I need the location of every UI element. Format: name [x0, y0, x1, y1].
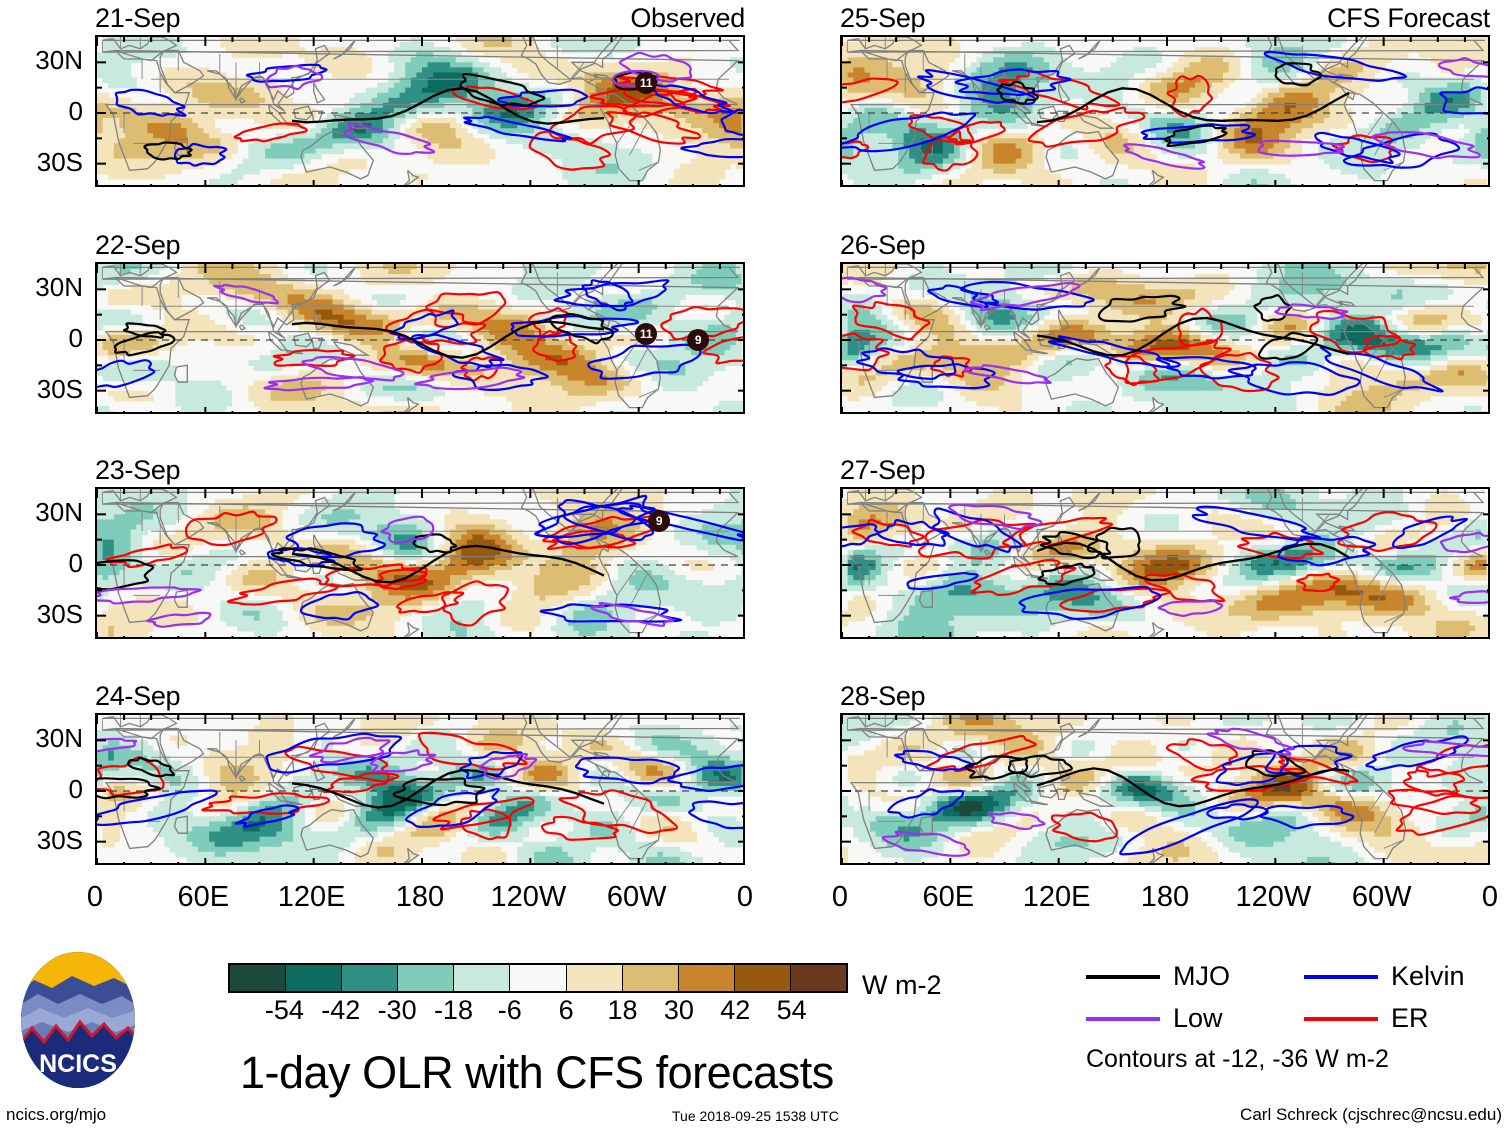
- x-tick-label: 60W: [592, 883, 682, 912]
- footer-timestamp: Tue 2018-09-25 1538 UTC: [672, 1108, 839, 1125]
- footer-author: Carl Schreck (cjschrec@ncsu.edu): [1240, 1106, 1502, 1123]
- y-tick-label: 0: [0, 325, 83, 351]
- legend-label: Low: [1173, 1005, 1223, 1032]
- colorbar-swatch: [230, 965, 286, 991]
- legend-line-swatch: [1086, 1017, 1160, 1021]
- panel-ticks: [97, 264, 745, 414]
- legend-item-low: Low: [1086, 1005, 1223, 1032]
- legend-line-swatch: [1304, 1017, 1378, 1021]
- colorbar-swatch: [398, 965, 454, 991]
- y-tick-label: 30S: [0, 827, 83, 853]
- legend-note: Contours at -12, -36 W m-2: [1086, 1047, 1389, 1072]
- x-tick-label: 60E: [903, 883, 993, 912]
- legend-label: ER: [1391, 1005, 1429, 1032]
- map-panel-24-sep[interactable]: [95, 713, 745, 865]
- y-tick-label: 30N: [0, 725, 83, 751]
- panel-date-label: 25-Sep: [840, 5, 925, 32]
- map-panel-23-sep[interactable]: 9: [95, 487, 745, 639]
- panel-date-label: 21-Sep: [95, 5, 180, 32]
- logo-svg: NCICS: [18, 950, 138, 1090]
- colorbar: -54-42-30-18-6618304254: [228, 963, 848, 1033]
- y-tick-label: 30N: [0, 47, 83, 73]
- panel-ticks: [97, 715, 745, 865]
- legend-item-mjo: MJO: [1086, 963, 1230, 990]
- colorbar-swatch: [623, 965, 679, 991]
- x-tick-label: 0: [50, 883, 140, 912]
- contour-legend: MJOKelvinLowER: [1086, 963, 1486, 1033]
- colorbar-swatch: [735, 965, 791, 991]
- colorbar-swatch: [286, 965, 342, 991]
- colorbar-swatch: [567, 965, 623, 991]
- logo-text: NCICS: [39, 1050, 117, 1078]
- legend-label: MJO: [1173, 963, 1230, 990]
- x-tick-label: 0: [700, 883, 790, 912]
- panel-date-label: 26-Sep: [840, 232, 925, 259]
- colorbar-swatch: [454, 965, 510, 991]
- legend-label: Kelvin: [1391, 963, 1465, 990]
- y-tick-label: 30S: [0, 376, 83, 402]
- colorbar-swatches: [228, 963, 848, 993]
- colorbar-tick-label: 54: [757, 997, 827, 1024]
- panel-date-label: 27-Sep: [840, 457, 925, 484]
- x-tick-label: 120E: [267, 883, 357, 912]
- legend-item-kelvin: Kelvin: [1304, 963, 1465, 990]
- colorbar-units-label: W m-2: [862, 972, 941, 999]
- y-tick-label: 0: [0, 550, 83, 576]
- y-tick-label: 30N: [0, 274, 83, 300]
- panel-ticks: [842, 489, 1490, 639]
- ncics-logo[interactable]: NCICS: [18, 950, 138, 1090]
- map-panel-22-sep[interactable]: 119: [95, 262, 745, 414]
- panel-date-label: 24-Sep: [95, 683, 180, 710]
- panel-ticks: [842, 264, 1490, 414]
- map-panel-21-sep[interactable]: 11: [95, 35, 745, 187]
- x-tick-label: 60E: [158, 883, 248, 912]
- panel-ticks: [97, 37, 745, 187]
- x-tick-label: 60W: [1337, 883, 1427, 912]
- legend-line-swatch: [1086, 975, 1160, 979]
- footer-link[interactable]: ncics.org/mjo: [6, 1106, 106, 1123]
- y-tick-label: 0: [0, 98, 83, 124]
- panel-date-label: 22-Sep: [95, 232, 180, 259]
- panel-date-label: 23-Sep: [95, 457, 180, 484]
- panel-ticks: [97, 489, 745, 639]
- column-header-right: CFS Forecast: [1327, 5, 1490, 32]
- map-panel-28-sep[interactable]: [840, 713, 1490, 865]
- legend-line-swatch: [1304, 975, 1378, 979]
- colorbar-swatch: [679, 965, 735, 991]
- x-tick-label: 120W: [483, 883, 573, 912]
- panel-ticks: [842, 37, 1490, 187]
- map-panel-25-sep[interactable]: [840, 35, 1490, 187]
- panel-date-label: 28-Sep: [840, 683, 925, 710]
- x-tick-label: 0: [795, 883, 885, 912]
- y-tick-label: 30S: [0, 149, 83, 175]
- x-tick-label: 180: [1120, 883, 1210, 912]
- colorbar-swatch: [510, 965, 566, 991]
- page-title: 1-day OLR with CFS forecasts: [240, 1050, 834, 1095]
- x-tick-label: 120E: [1012, 883, 1102, 912]
- map-panel-27-sep[interactable]: [840, 487, 1490, 639]
- y-tick-label: 0: [0, 776, 83, 802]
- x-tick-label: 120W: [1228, 883, 1318, 912]
- column-header-left: Observed: [630, 5, 745, 32]
- map-panel-26-sep[interactable]: [840, 262, 1490, 414]
- panel-ticks: [842, 715, 1490, 865]
- x-tick-label: 180: [375, 883, 465, 912]
- y-tick-label: 30S: [0, 601, 83, 627]
- y-tick-label: 30N: [0, 499, 83, 525]
- x-tick-label: 0: [1445, 883, 1510, 912]
- legend-item-er: ER: [1304, 1005, 1429, 1032]
- colorbar-swatch: [342, 965, 398, 991]
- colorbar-swatch: [791, 965, 846, 991]
